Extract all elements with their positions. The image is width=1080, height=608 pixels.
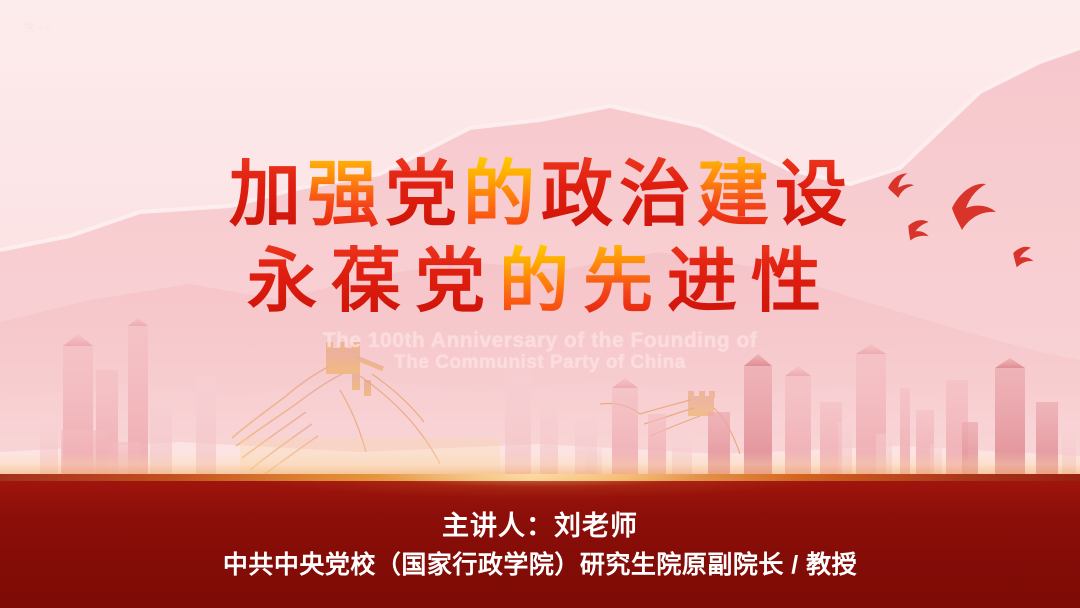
title-char: 进: [666, 238, 750, 324]
title-char: 的: [462, 152, 540, 238]
watermark-subtext: 党建: [38, 27, 51, 33]
speaker-affiliation: 中共中央党校（国家行政学院）研究生院原副院长 / 教授: [223, 546, 857, 584]
title-char: 先: [582, 238, 666, 324]
banner-content: 主讲人：刘老师 中共中央党校（国家行政学院）研究生院原副院长 / 教授: [0, 474, 1080, 608]
title-char: 葆: [330, 238, 414, 324]
title-char: 设: [774, 152, 852, 238]
title-char: 的: [498, 238, 582, 324]
english-subtitle-line-2: The Communist Party of China: [0, 352, 1080, 374]
english-subtitle-line-1: The 100th Anniversary of the Founding of: [323, 329, 758, 352]
title-slide: 党 党建 The 100th Anniversary of the Foundi…: [0, 0, 1080, 608]
title-line-2: 永葆党的先进性: [0, 238, 1080, 324]
title-char: 性: [750, 238, 834, 324]
title-char: 政: [540, 152, 618, 238]
speaker-name: 主讲人：刘老师: [442, 506, 638, 546]
title-line-1: 加强党的政治建设: [0, 152, 1080, 238]
title-char: 治: [618, 152, 696, 238]
title-char: 建: [696, 152, 774, 238]
speaker-banner: 主讲人：刘老师 中共中央党校（国家行政学院）研究生院原副院长 / 教授: [0, 474, 1080, 608]
page-title: 加强党的政治建设 永葆党的先进性: [0, 152, 1080, 324]
title-char: 强: [306, 152, 384, 238]
english-subtitle: The 100th Anniversary of the Founding of…: [0, 330, 1080, 374]
horizon-glow: [0, 452, 1080, 474]
title-char: 党: [384, 152, 462, 238]
title-char: 加: [228, 152, 306, 238]
title-char: 永: [246, 238, 330, 324]
title-char: 党: [414, 238, 498, 324]
corner-watermark-logo: 党 党建: [14, 18, 60, 62]
watermark-char: 党: [23, 22, 34, 34]
